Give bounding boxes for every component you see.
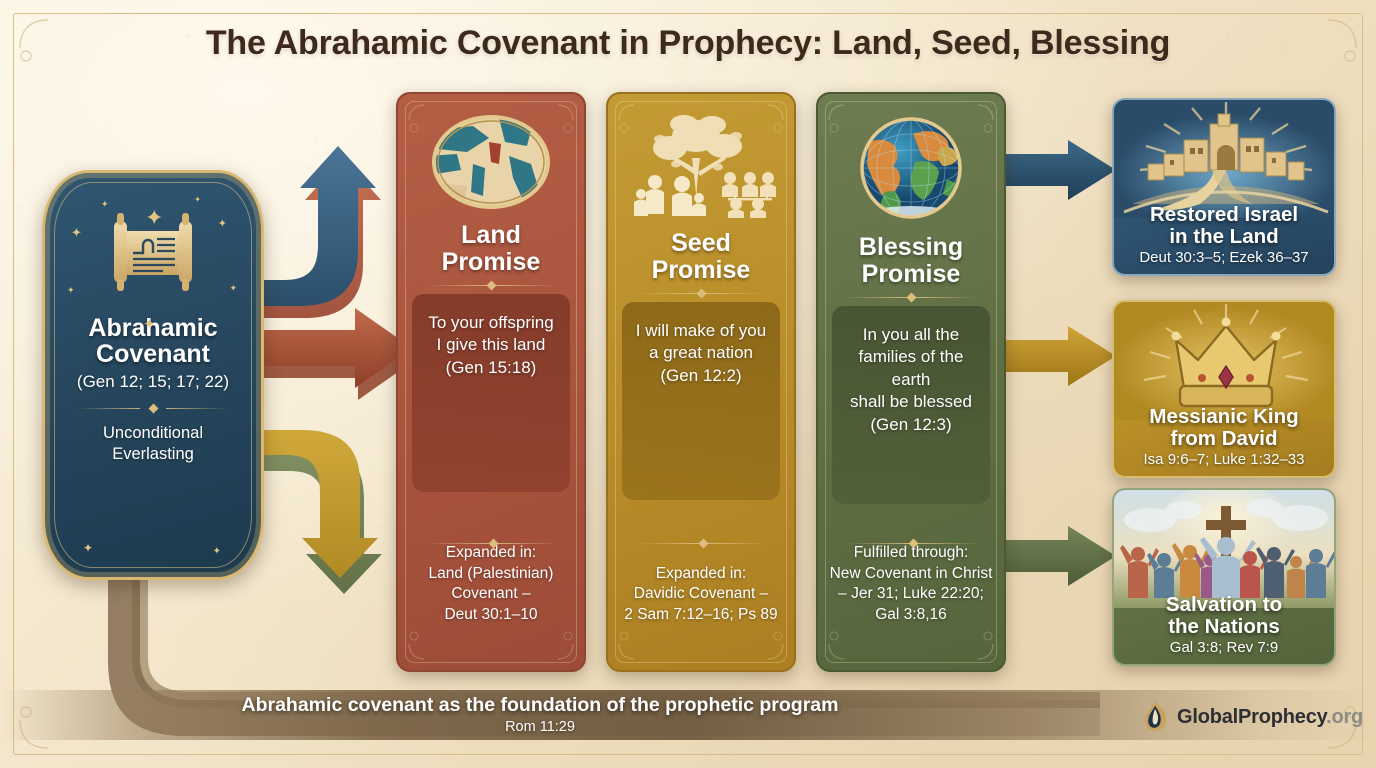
covenant-attributes: Unconditional Everlasting bbox=[45, 423, 261, 465]
infographic-canvas: The Abrahamic Covenant in Prophecy: Land… bbox=[0, 0, 1376, 768]
covenant-attribute-everlasting: Everlasting bbox=[45, 444, 261, 465]
card-divider bbox=[637, 539, 769, 548]
nations-worship-cross-icon bbox=[1114, 490, 1336, 608]
outcome-title: Messianic King from David bbox=[1114, 406, 1334, 450]
arrow-seed-to-messianic-king bbox=[1000, 326, 1116, 386]
quote-line: shall be blessed bbox=[840, 391, 982, 413]
covenant-attribute-unconditional: Unconditional bbox=[45, 423, 261, 444]
star-icon: ✦ bbox=[194, 195, 201, 204]
promise-card-blessing[interactable]: Blessing Promise In you all the families… bbox=[816, 92, 1006, 672]
corner-flourish-icon bbox=[964, 630, 994, 660]
globe-icon bbox=[851, 112, 971, 224]
footer-line: New Covenant in Christ bbox=[828, 564, 994, 585]
brand-logo[interactable]: GlobalProphecy.org bbox=[1140, 700, 1363, 734]
quote-reference: (Gen 12:2) bbox=[630, 365, 772, 387]
card-divider bbox=[425, 281, 557, 290]
corner-flourish-icon bbox=[828, 630, 858, 660]
arrow-land-to-restored-israel bbox=[1000, 140, 1116, 200]
star-icon: ✦ bbox=[213, 546, 221, 557]
outcome-title-line2: in the Land bbox=[1114, 226, 1334, 248]
promise-title-line2: Promise bbox=[818, 261, 1004, 288]
star-icon: ✦ bbox=[71, 225, 82, 241]
abrahamic-covenant-panel[interactable]: ✦ ✦ ✦ ✦ ✦ ✦ ✦ ✦ ✦ ✦ A bbox=[42, 170, 264, 580]
outcome-text-messianic-king: Messianic King from David Isa 9:6–7; Luk… bbox=[1114, 406, 1334, 468]
promise-title-seed: Seed Promise bbox=[608, 230, 794, 283]
footer-line: Deut 30:1–10 bbox=[408, 605, 574, 626]
outcome-reference: Deut 30:3–5; Ezek 36–37 bbox=[1114, 249, 1334, 266]
walled-city-sunrise-icon bbox=[1114, 100, 1336, 218]
corner-flourish-icon bbox=[408, 630, 438, 660]
promise-title-land: Land Promise bbox=[398, 222, 584, 275]
brand-name-text: GlobalProphecy bbox=[1177, 706, 1326, 728]
quote-reference: (Gen 12:3) bbox=[840, 414, 982, 436]
outcome-card-messianic-king[interactable]: Messianic King from David Isa 9:6–7; Luk… bbox=[1112, 300, 1336, 478]
footer-reference: Rom 11:29 bbox=[0, 719, 1080, 735]
outcome-title: Restored Israel in the Land bbox=[1114, 204, 1334, 248]
quote-line: To your offspring bbox=[420, 312, 562, 334]
brand-tld-text: .org bbox=[1326, 706, 1363, 728]
outcome-text-salvation-nations: Salvation to the Nations Gal 3:8; Rev 7:… bbox=[1114, 594, 1334, 656]
quote-line: a great nation bbox=[630, 342, 772, 364]
outcome-title-line1: Salvation to bbox=[1114, 594, 1334, 616]
star-icon: ✦ bbox=[229, 283, 237, 294]
promise-title-blessing: Blessing Promise bbox=[818, 234, 1004, 287]
family-tree-icon bbox=[626, 112, 776, 220]
promise-footer-blessing: Fulfilled through: New Covenant in Chris… bbox=[828, 543, 994, 626]
promise-title-line2: Promise bbox=[398, 249, 584, 276]
middle-east-map-icon bbox=[427, 112, 555, 212]
promise-card-land[interactable]: Land Promise To your offspring I give th… bbox=[396, 92, 586, 672]
promise-quote-seed: I will make of you a great nation (Gen 1… bbox=[622, 302, 780, 500]
covenant-title: Abrahamic Covenant bbox=[45, 315, 261, 368]
torah-scroll-icon bbox=[101, 207, 205, 299]
footer-line: Gal 3:8,16 bbox=[828, 605, 994, 626]
corner-flourish-icon bbox=[618, 630, 648, 660]
promise-title-line1: Land bbox=[398, 222, 584, 249]
star-icon: ✦ bbox=[218, 217, 227, 230]
covenant-divider bbox=[78, 404, 228, 413]
promise-footer-land: Expanded in: Land (Palestinian) Covenant… bbox=[408, 543, 574, 626]
outcome-title-line1: Messianic King bbox=[1114, 406, 1334, 428]
left-arrow-group bbox=[250, 130, 420, 610]
page-title: The Abrahamic Covenant in Prophecy: Land… bbox=[0, 24, 1376, 63]
footer-line: Covenant – bbox=[408, 584, 574, 605]
promise-title-line1: Seed bbox=[608, 230, 794, 257]
outcome-reference: Isa 9:6–7; Luke 1:32–33 bbox=[1114, 451, 1334, 468]
outcome-title: Salvation to the Nations bbox=[1114, 594, 1334, 638]
promise-title-line2: Promise bbox=[608, 257, 794, 284]
quote-reference: (Gen 15:18) bbox=[420, 357, 562, 379]
quote-line: I will make of you bbox=[630, 320, 772, 342]
flame-leaf-logo-icon bbox=[1140, 700, 1170, 734]
promise-quote-blessing: In you all the families of the earth sha… bbox=[832, 306, 990, 504]
arrow-covenant-to-land-upper bbox=[250, 146, 381, 318]
outcome-title-line2: the Nations bbox=[1114, 616, 1334, 638]
crown-icon bbox=[1114, 302, 1336, 420]
footer-label: Expanded in: bbox=[408, 543, 574, 564]
brand-name: GlobalProphecy.org bbox=[1177, 706, 1363, 729]
outcome-card-salvation-nations[interactable]: Salvation to the Nations Gal 3:8; Rev 7:… bbox=[1112, 488, 1336, 666]
footer-line: Land (Palestinian) bbox=[408, 564, 574, 585]
outcome-text-restored-israel: Restored Israel in the Land Deut 30:3–5;… bbox=[1114, 204, 1334, 266]
footer-label: Expanded in: bbox=[618, 564, 784, 585]
quote-line: I give this land bbox=[420, 334, 562, 356]
outcome-card-restored-israel[interactable]: Restored Israel in the Land Deut 30:3–5;… bbox=[1112, 98, 1336, 276]
outcome-reference: Gal 3:8; Rev 7:9 bbox=[1114, 639, 1334, 656]
footer-line: Davidic Covenant – bbox=[618, 584, 784, 605]
outcome-title-line2: from David bbox=[1114, 428, 1334, 450]
corner-flourish-icon bbox=[544, 630, 574, 660]
covenant-title-line1: Abrahamic bbox=[45, 315, 261, 341]
promise-quote-land: To your offspring I give this land (Gen … bbox=[412, 294, 570, 492]
star-icon: ✦ bbox=[83, 541, 93, 555]
quote-line: In you all the bbox=[840, 324, 982, 346]
footer-caption: Abrahamic covenant as the foundation of … bbox=[0, 694, 1080, 717]
footer-line: 2 Sam 7:12–16; Ps 89 bbox=[618, 605, 784, 626]
promise-title-line1: Blessing bbox=[818, 234, 1004, 261]
footer-label: Fulfilled through: bbox=[828, 543, 994, 564]
star-icon: ✦ bbox=[67, 285, 75, 296]
covenant-references: (Gen 12; 15; 17; 22) bbox=[45, 372, 261, 392]
promise-footer-seed: Expanded in: Davidic Covenant – 2 Sam 7:… bbox=[618, 564, 784, 626]
outcome-title-line1: Restored Israel bbox=[1114, 204, 1334, 226]
card-divider bbox=[635, 289, 767, 298]
card-divider bbox=[845, 293, 977, 302]
covenant-title-line2: Covenant bbox=[45, 341, 261, 367]
quote-line: families of the earth bbox=[840, 346, 982, 391]
promise-card-seed[interactable]: Seed Promise I will make of you a great … bbox=[606, 92, 796, 672]
footer-line: – Jer 31; Luke 22:20; bbox=[828, 584, 994, 605]
corner-flourish-icon bbox=[754, 630, 784, 660]
arrow-covenant-to-land-middle bbox=[250, 308, 415, 400]
